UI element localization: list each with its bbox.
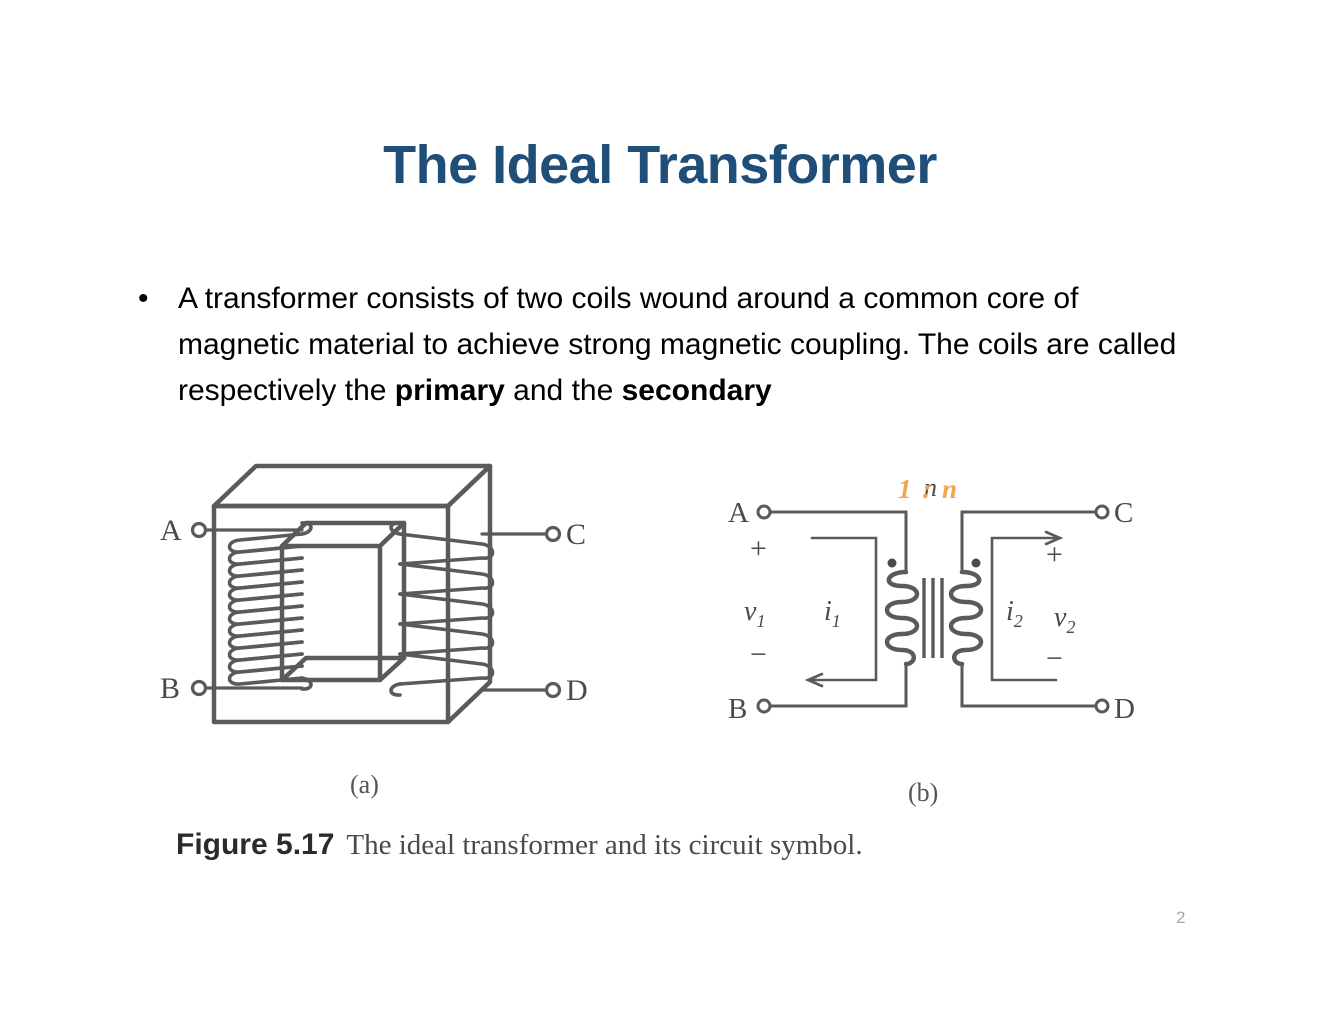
page-title: The Ideal Transformer (0, 134, 1320, 196)
figure-caption-number: Figure 5.17 (176, 828, 334, 861)
paragraph-segment-primary: primary (395, 374, 505, 407)
slide: The Ideal Transformer • A transformer co… (0, 0, 1320, 1020)
figure-a-transformer-core: A B C D (152, 438, 602, 778)
symbol-terminal-label-b: B (728, 693, 747, 725)
terminal-label-c: C (566, 518, 586, 551)
symbol-terminal-label-d: D (1114, 693, 1135, 725)
symbol-terminal-label-c: C (1114, 497, 1133, 529)
bullet-marker-icon: • (132, 276, 178, 322)
secondary-minus-sign: − (1046, 642, 1063, 675)
terminal-node-c (547, 528, 560, 541)
transformer-core-bars (924, 578, 942, 658)
primary-current-label: i1 (824, 596, 841, 631)
page-number: 2 (1176, 908, 1185, 928)
bullet-list-item: • A transformer consists of two coils wo… (132, 276, 1202, 414)
core-3d-drawing: A B C D (152, 438, 602, 778)
symbol-terminal-node-b (758, 700, 770, 712)
secondary-voltage-label: v2 (1054, 602, 1075, 637)
primary-coil-icon (887, 572, 917, 664)
bullet-paragraph: A transformer consists of two coils woun… (178, 276, 1202, 414)
body-text-block: • A transformer consists of two coils wo… (132, 276, 1202, 414)
primary-minus-sign: − (750, 638, 767, 671)
symbol-terminal-node-c (1096, 506, 1108, 518)
symbol-terminal-node-d (1096, 700, 1108, 712)
terminal-label-d: D (566, 674, 588, 707)
paragraph-segment-secondary: secondary (622, 374, 772, 407)
polarity-dots (888, 559, 981, 568)
terminal-node-b (193, 682, 206, 695)
polarity-dot-primary (888, 559, 897, 568)
secondary-current-label: i2 (1006, 596, 1023, 631)
sub-caption-a: (a) (350, 770, 379, 800)
symbol-terminal-label-a: A (728, 497, 749, 529)
figure-caption-text: The ideal transformer and its circuit sy… (334, 829, 862, 861)
sub-caption-b: (b) (908, 778, 938, 808)
terminal-label-b: B (160, 672, 180, 705)
primary-voltage-label: v1 (744, 596, 765, 631)
paragraph-segment-3: and the (505, 374, 622, 407)
polarity-dot-secondary (972, 559, 981, 568)
circuit-symbol-drawing: A B C D n + − + − v1 i1 (716, 468, 1146, 768)
figure-caption: Figure 5.17The ideal transformer and its… (176, 828, 863, 862)
turns-ratio-annotation: 1 : n (898, 474, 959, 505)
secondary-plus-sign: + (1046, 538, 1063, 571)
symbol-terminal-node-a (758, 506, 770, 518)
terminal-node-a (193, 524, 206, 537)
secondary-coil-icon (951, 572, 981, 664)
primary-plus-sign: + (750, 532, 767, 565)
terminal-label-a: A (160, 514, 182, 547)
terminal-node-d (547, 684, 560, 697)
figure-b-circuit-symbol: A B C D n + − + − v1 i1 (716, 468, 1146, 768)
